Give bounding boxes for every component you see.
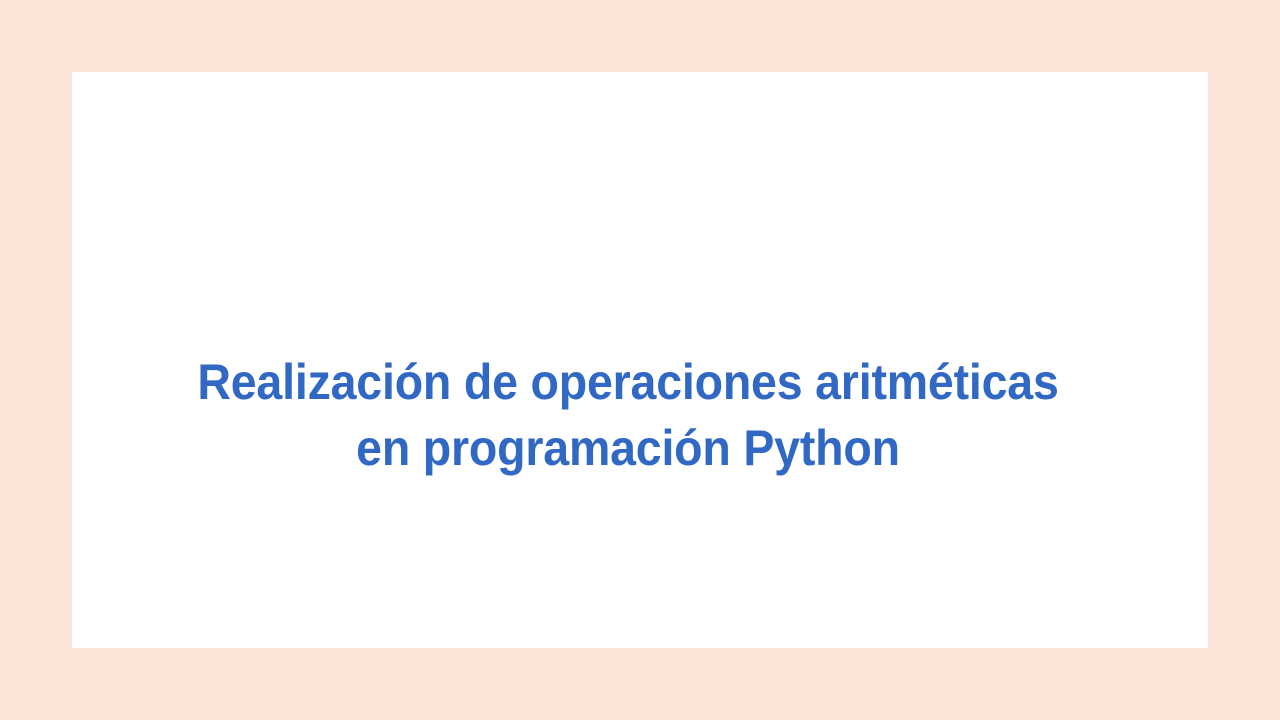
slide-title-line-2: en programación Python	[111, 415, 1145, 481]
slide-canvas: Realización de operaciones aritméticas e…	[0, 0, 1280, 720]
slide-title-line-1: Realización de operaciones aritméticas	[111, 349, 1145, 415]
slide-card: Realización de operaciones aritméticas e…	[72, 72, 1208, 648]
slide-title: Realización de operaciones aritméticas e…	[72, 349, 1184, 481]
